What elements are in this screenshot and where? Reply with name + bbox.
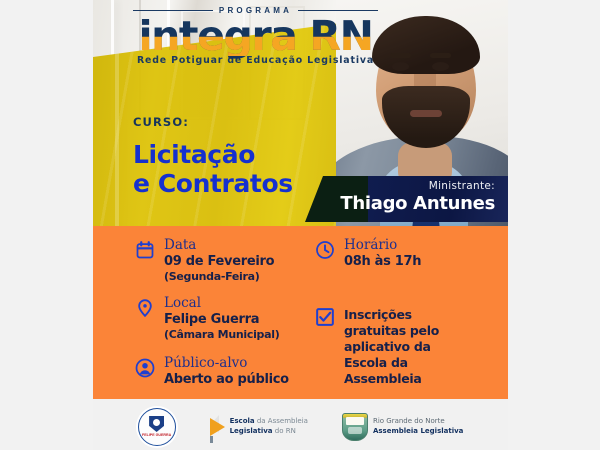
checkbox-checked-icon: [315, 307, 335, 327]
info-item-local: Local Felipe Guerra (Câmara Municipal): [135, 296, 320, 342]
info-label-local: Local: [164, 296, 279, 310]
info-value-horario: 08h às 17h: [344, 254, 421, 269]
footer-logos-bar: FELIPE GUERRA Escola da Assembleia Legis…: [93, 399, 508, 450]
info-item-horario: Horário 08h às 17h: [315, 238, 495, 269]
info-section: Data 09 de Fevereiro (Segunda-Feira) Loc…: [93, 226, 508, 399]
play-triangle-icon: [210, 418, 225, 436]
course-block: CURSO: Licitação e Contratos: [133, 115, 293, 198]
info-body-local: Local Felipe Guerra (Câmara Municipal): [164, 296, 279, 342]
municipal-seal-icon: FELIPE GUERRA: [138, 408, 176, 446]
escola-line2-light: do RN: [273, 427, 296, 435]
escola-line1: Escola da Assembleia: [230, 417, 308, 427]
logo-rule-right: [298, 10, 378, 11]
course-title-line1: Licitação: [133, 140, 293, 169]
escola-assembleia-logo: Escola da Assembleia Legislativa do RN: [210, 417, 308, 436]
info-label-horario: Horário: [344, 238, 421, 252]
speaker-name: Thiago Antunes: [305, 193, 495, 214]
info-value-inscricoes: Inscrições gratuitas pelo aplicativo da …: [344, 307, 462, 387]
info-sub-local: (Câmara Municipal): [164, 328, 279, 342]
photo-eyebrow-right: [430, 53, 451, 58]
info-body-inscricoes: Inscrições gratuitas pelo aplicativo da …: [344, 305, 462, 387]
info-sub-data: (Segunda-Feira): [164, 270, 274, 284]
info-item-publico-alvo: Público-alvo Aberto ao público: [135, 356, 320, 387]
escola-line2-bold: Legislativa: [230, 427, 273, 435]
logo-rule-left: [133, 10, 213, 11]
photo-eyebrow-left: [390, 53, 411, 58]
speaker-role-label: Ministrante:: [305, 180, 495, 192]
calendar-icon: [135, 240, 155, 260]
info-value-local: Felipe Guerra: [164, 312, 279, 327]
info-column-left: Data 09 de Fevereiro (Segunda-Feira) Loc…: [135, 238, 320, 399]
info-value-publico-alvo: Aberto ao público: [164, 372, 289, 387]
info-column-right: Horário 08h às 17h Inscrições gratuitas …: [315, 238, 495, 399]
person-icon: [135, 358, 155, 378]
assembleia-legislativa-logo: Rio Grande do Norte Assembleia Legislati…: [342, 413, 463, 441]
photo-eye-left: [392, 62, 409, 71]
assembleia-line1: Rio Grande do Norte: [373, 417, 463, 427]
poster-canvas: PROGRAMA integra RN integra RN Rede Poti…: [93, 0, 508, 450]
photo-eye-right: [432, 62, 449, 71]
course-title-line2: e Contratos: [133, 169, 293, 198]
escola-line1-light: da Assembleia: [255, 417, 308, 425]
photo-mouth: [410, 110, 442, 117]
info-item-data: Data 09 de Fevereiro (Segunda-Feira): [135, 238, 320, 284]
seal-text: FELIPE GUERRA: [142, 433, 171, 437]
info-label-publico-alvo: Público-alvo: [164, 356, 289, 370]
info-body-publico-alvo: Público-alvo Aberto ao público: [164, 356, 289, 387]
clock-icon: [315, 240, 335, 260]
location-pin-icon: [135, 298, 155, 318]
assembleia-line2: Assembleia Legislativa: [373, 427, 463, 437]
rn-coat-of-arms-icon: [342, 413, 368, 441]
escola-logo-text: Escola da Assembleia Legislativa do RN: [230, 417, 308, 436]
column-spacer: [315, 281, 495, 305]
footer-inner: FELIPE GUERRA Escola da Assembleia Legis…: [93, 399, 508, 450]
info-label-data: Data: [164, 238, 274, 252]
speaker-band-text: Ministrante: Thiago Antunes: [305, 176, 508, 222]
seal-crest-shape: [149, 416, 164, 432]
info-item-inscricoes: Inscrições gratuitas pelo aplicativo da …: [315, 305, 495, 387]
info-value-data: 09 de Fevereiro: [164, 254, 274, 269]
logo-wordmark: integra RN integra RN: [133, 16, 378, 56]
escola-line1-bold: Escola: [230, 417, 255, 425]
course-title: Licitação e Contratos: [133, 140, 293, 198]
integra-rn-logo: PROGRAMA integra RN integra RN Rede Poti…: [133, 6, 378, 66]
escola-line2: Legislativa do RN: [230, 427, 308, 437]
assembleia-logo-text: Rio Grande do Norte Assembleia Legislati…: [373, 417, 463, 436]
info-body-data: Data 09 de Fevereiro (Segunda-Feira): [164, 238, 274, 284]
course-label: CURSO:: [133, 115, 293, 129]
info-body-horario: Horário 08h às 17h: [344, 238, 421, 269]
